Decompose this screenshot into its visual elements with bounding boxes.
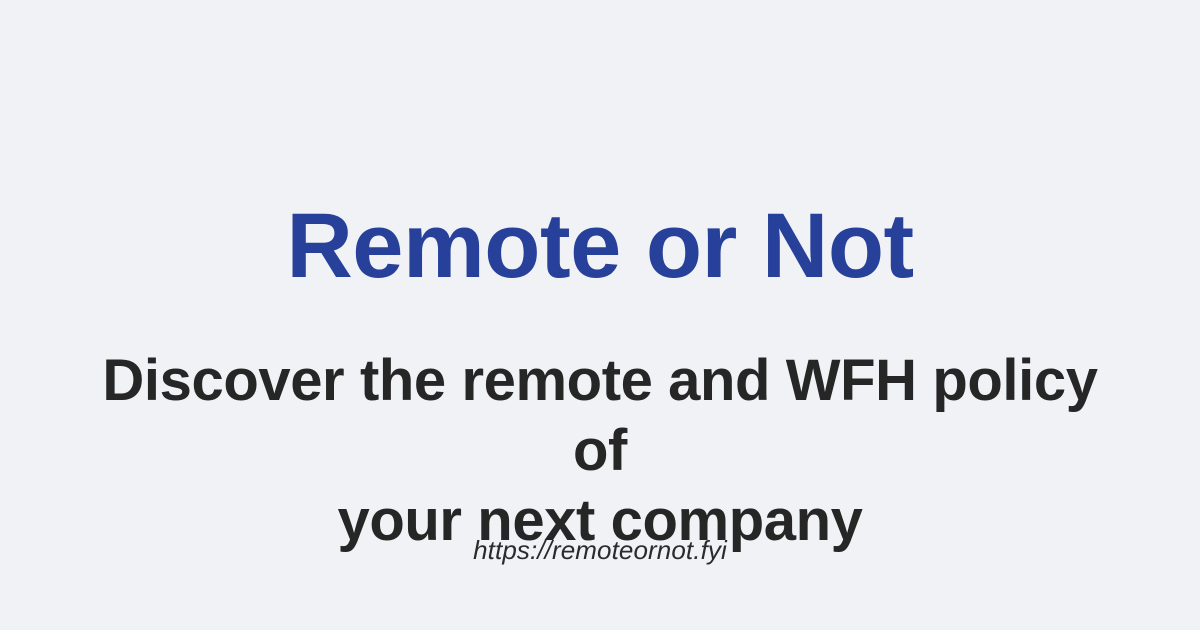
page-title: Remote or Not [0,196,1200,296]
tagline: Discover the remote and WFH policy of yo… [100,346,1100,556]
site-url: https://remoteornot.fyi [0,533,1200,567]
og-share-card: Remote or Not Discover the remote and WF… [0,0,1200,630]
tagline-line-1: Discover the remote and WFH policy of [100,346,1100,486]
